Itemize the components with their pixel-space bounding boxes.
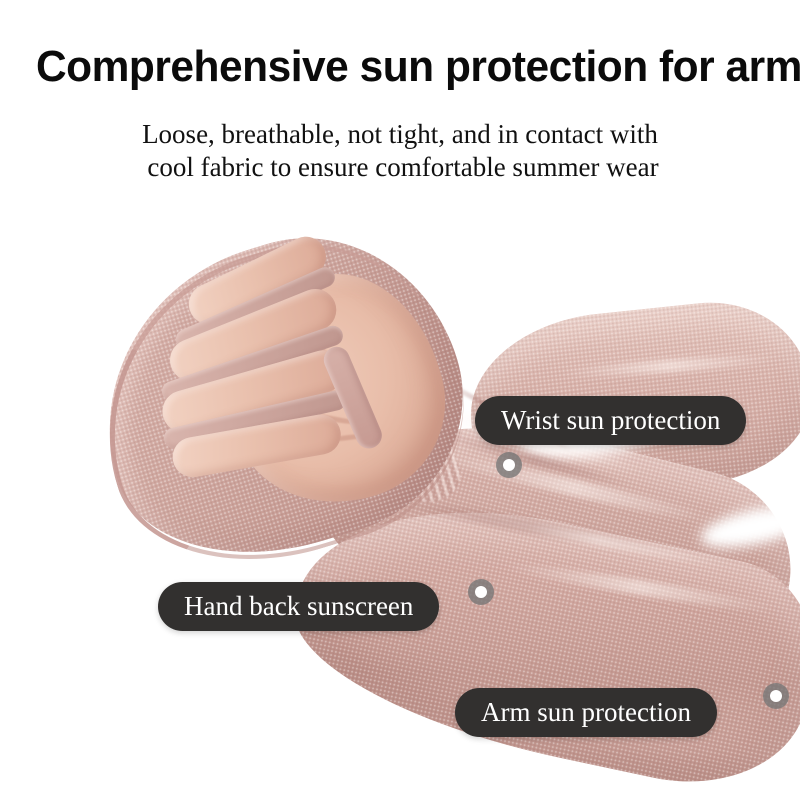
product-feature-image: Comprehensive sun protection for arms Lo… <box>0 0 800 800</box>
marker-dot-arm <box>763 683 789 709</box>
marker-dot-wrist <box>496 452 522 478</box>
page-subtitle: Loose, breathable, not tight, and in con… <box>0 118 800 184</box>
page-title: Comprehensive sun protection for arms <box>36 42 750 92</box>
callout-label-hand-back: Hand back sunscreen <box>158 582 439 631</box>
callout-label-arm: Arm sun protection <box>455 688 717 737</box>
marker-dot-hand-back <box>468 579 494 605</box>
callout-label-wrist: Wrist sun protection <box>475 396 746 445</box>
subtitle-line-1: Loose, breathable, not tight, and in con… <box>0 118 800 151</box>
